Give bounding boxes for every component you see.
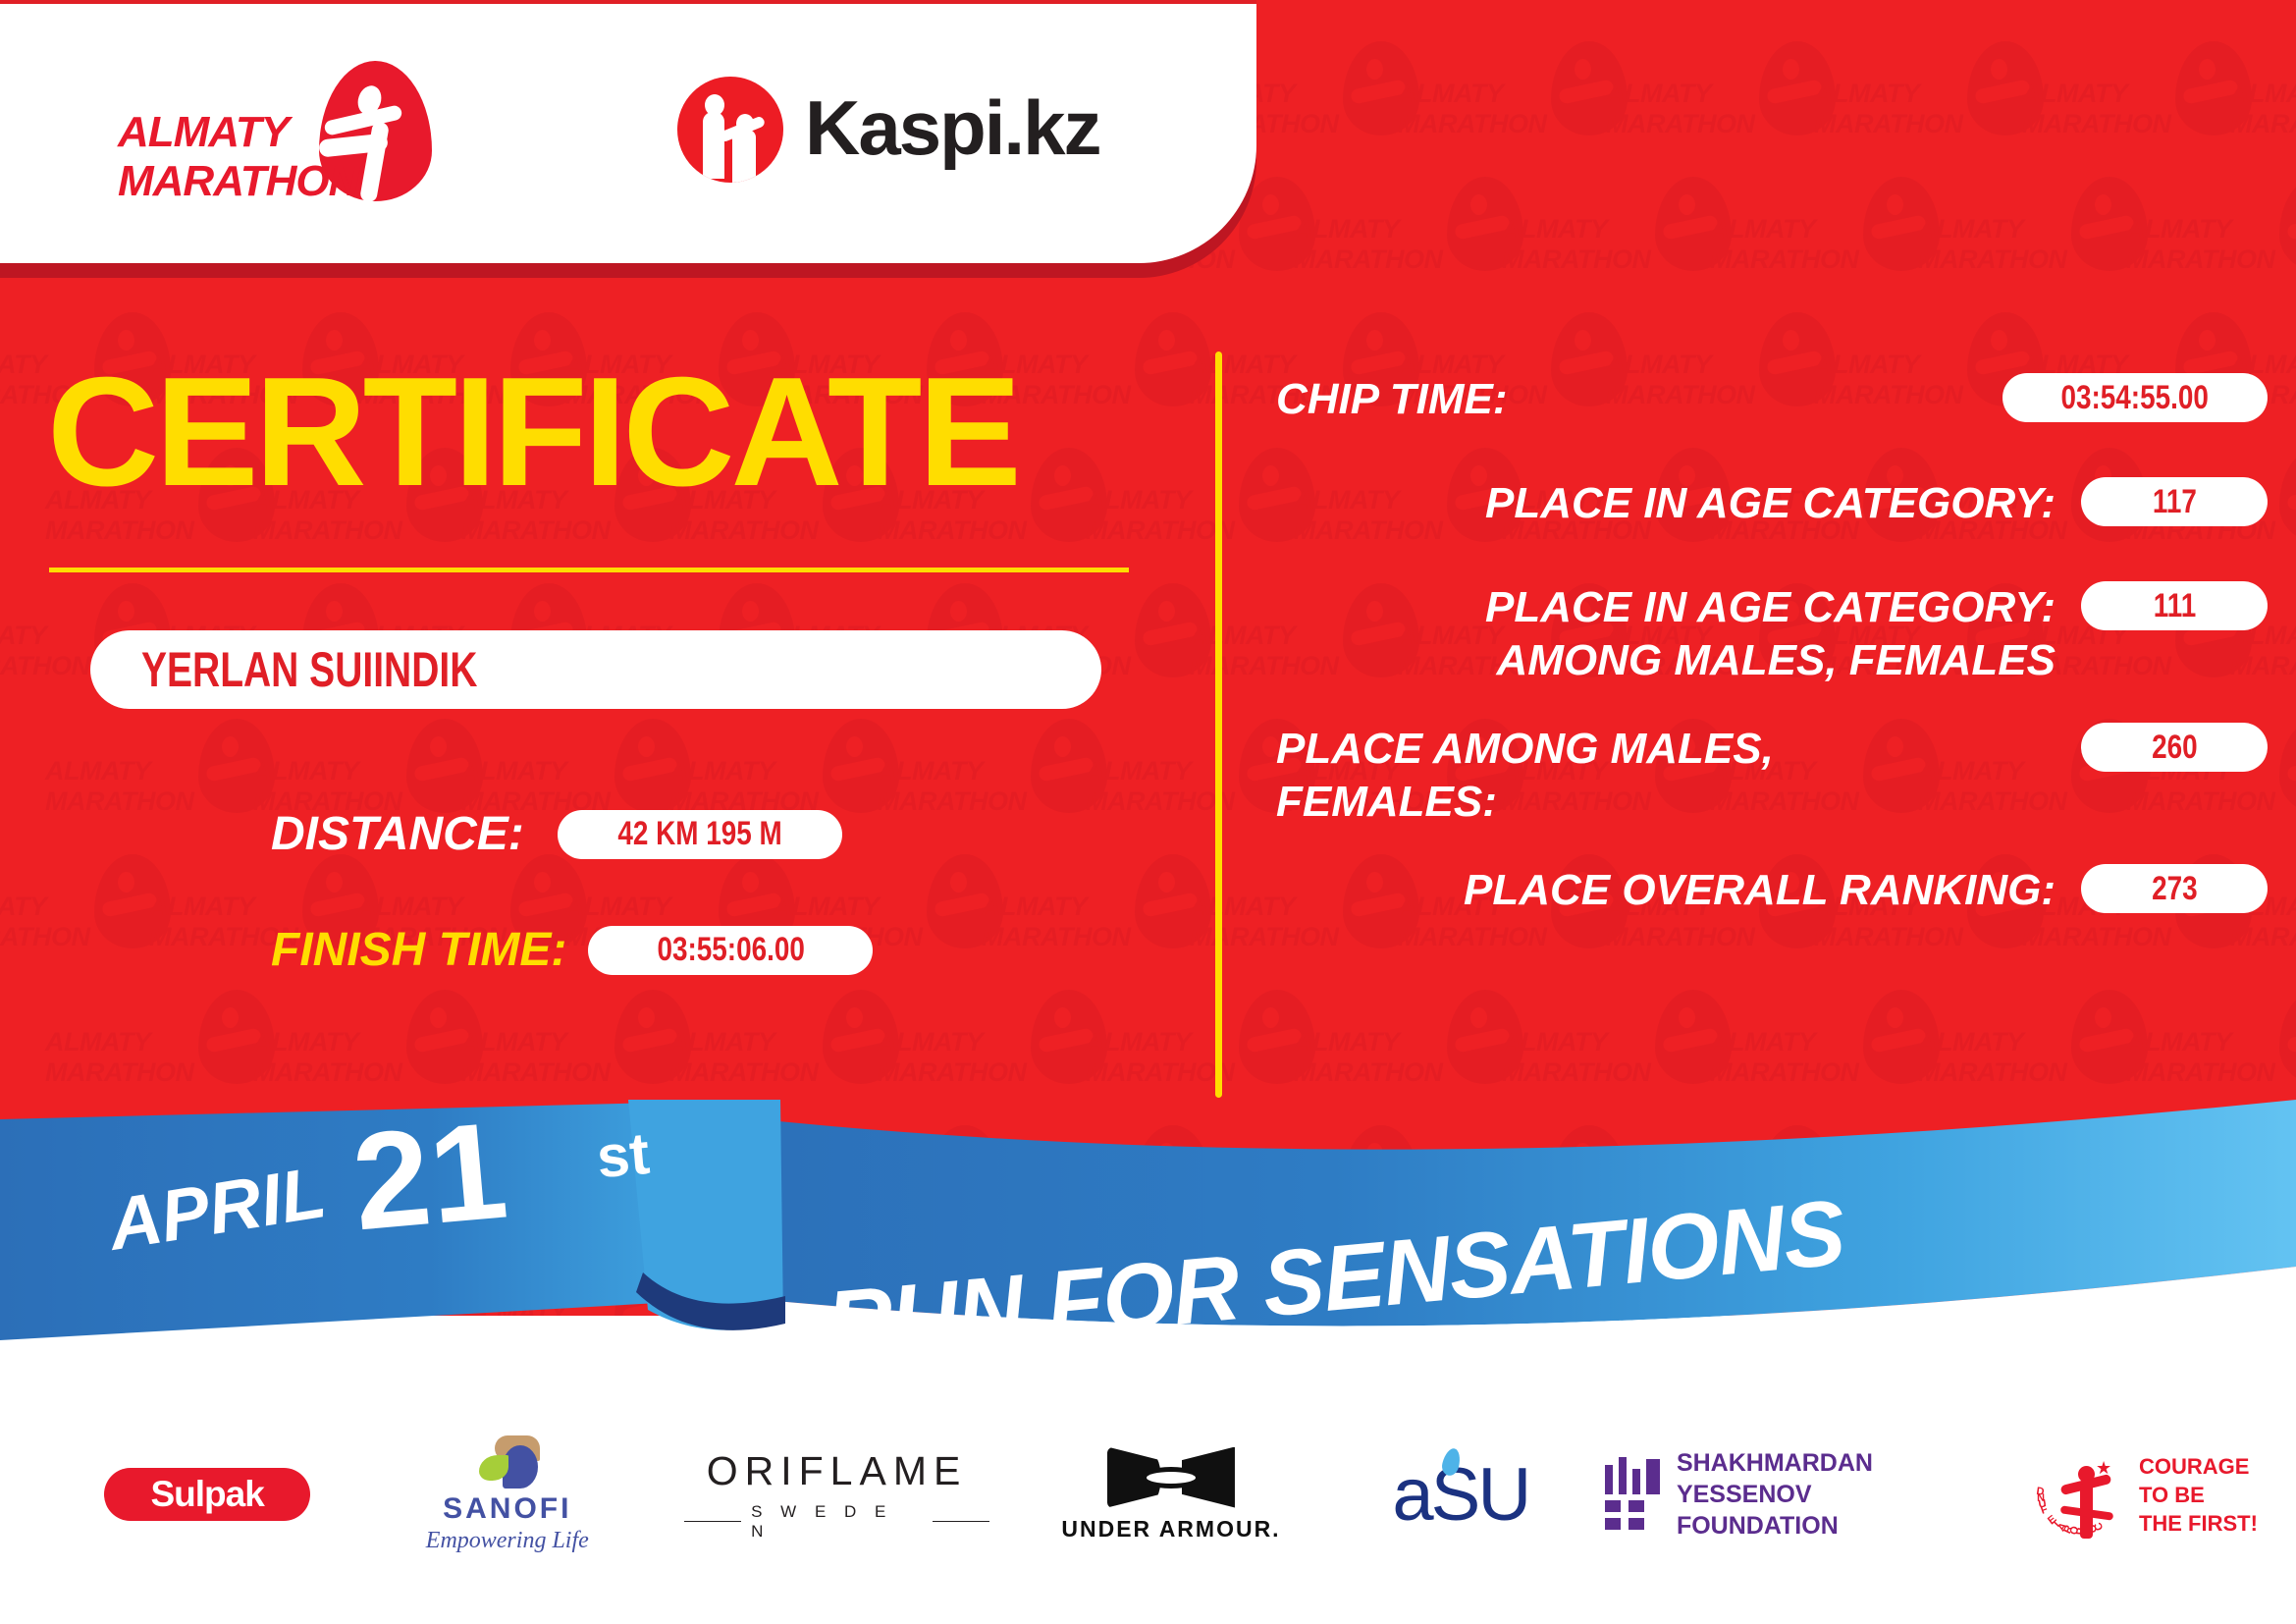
watermark-text: ALMATYMARATHON (1398, 1163, 1565, 1223)
sponsor-asu: aSU (1345, 1426, 1575, 1563)
sanofi-mark-icon (473, 1435, 542, 1489)
sponsor-sulpak: Sulpak (69, 1426, 346, 1563)
athlete-name-value: YERLAN SUIINDIK (141, 641, 477, 698)
certificate-page: ALMATYMARATHONALMATYMARATHONALMATYMARATH… (0, 0, 2296, 1624)
watermark-text: ALMATYMARATHON (1502, 1027, 1669, 1088)
watermark-text: ALMATYMARATHON (774, 1163, 940, 1223)
finish-time-row: FINISH TIME: 03:55:06.00 (271, 923, 873, 977)
watermark-text: ALMATYMARATHON (0, 1163, 108, 1223)
runner-leg2-shape (359, 121, 390, 203)
watermark-tile: ALMATYMARATHON (2230, 39, 2296, 187)
yessenov-bar-3 (1632, 1469, 1640, 1494)
courage-line-1: COURAGE (2139, 1452, 2258, 1481)
watermark-text: ALMATYMARATHON (1710, 1027, 1877, 1088)
watermark-tile: ALMATYMARATHON (1606, 1123, 1842, 1271)
distance-value-pill: 42 KM 195 M (558, 810, 842, 859)
watermark-text: ALMATYMARATHON (982, 1163, 1148, 1223)
watermark-tile: ALMATYMARATHON (1294, 988, 1529, 1135)
sponsor-logo-strip: Sulpak SANOFI Empowering Life ORIFLAME S… (0, 1406, 2296, 1583)
watermark-text: ALMATYMARATHON (1918, 214, 2085, 275)
sponsor-under-armour: UNDER ARMOUR. (1033, 1426, 1309, 1563)
watermark-text: ALMATYMARATHON (1814, 1163, 1981, 1223)
kaspi-logo: Kaspi.kz (677, 71, 1070, 189)
vertical-divider (1215, 352, 1222, 1098)
courage-wordmark: COURAGE TO BE THE FIRST! (2139, 1452, 2258, 1538)
stat-label: PLACE OVERALL RANKING: (1276, 864, 2056, 917)
watermark-tile: ALMATYMARATHON (1294, 175, 1529, 322)
oriflame-sub: S W E D E N (751, 1502, 923, 1542)
watermark-text: ALMATYMARATHON (1294, 1027, 1461, 1088)
watermark-text: ALMATYMARATHON (1398, 79, 1565, 139)
watermark-tile: ALMATYMARATHON (149, 1123, 385, 1271)
stat-value-pill: 273 (2081, 864, 2268, 913)
under-armour-logo-icon (1107, 1447, 1235, 1508)
yessenov-sq-1 (1605, 1500, 1621, 1512)
oriflame-rule-right (933, 1521, 989, 1522)
watermark-tile: ALMATYMARATHON (1606, 39, 1842, 187)
asu-wordmark: aSU (1392, 1452, 1528, 1538)
sponsor-oriflame: ORIFLAME S W E D E N (684, 1426, 989, 1563)
stat-label: CHIP TIME: (1276, 373, 1977, 426)
courage-line-2: TO BE (2139, 1481, 2258, 1509)
watermark-tile: ALMATYMARATHON (1190, 1123, 1425, 1271)
yessenov-sq-3 (1605, 1518, 1621, 1530)
watermark-text: ALMATYMARATHON (1606, 1163, 1773, 1223)
logo-line-2: MARATHON (118, 157, 358, 206)
almaty-marathon-logo: ALMATY MARATHON (118, 61, 442, 203)
stat-label: PLACE AMONG MALES,FEMALES: (1276, 723, 2056, 829)
watermark-tile: ALMATYMARATHON (1710, 175, 1946, 322)
watermark-tile: ALMATYMARATHON (1918, 988, 2154, 1135)
watermark-text: ALMATYMARATHON (1502, 214, 1669, 275)
results-stats-list: CHIP TIME:03:54:55.00PLACE IN AGE CATEGO… (1276, 373, 2268, 968)
watermark-text: ALMATYMARATHON (2126, 214, 2293, 275)
sanofi-green-shape (479, 1455, 508, 1481)
stat-value: 117 (2152, 483, 2196, 521)
sulpak-wordmark: Sulpak (150, 1474, 263, 1515)
watermark-text: ALMATYMARATHON (1294, 214, 1461, 275)
kaspi-child-body (732, 130, 756, 183)
watermark-tile: ALMATYMARATHON (1814, 39, 2050, 187)
watermark-tile: ALMATYMARATHON (2230, 1123, 2296, 1271)
title-underline (49, 568, 1129, 572)
sponsor-yessenov-foundation: SHAKHMARDAN YESSENOV FOUNDATION (1605, 1426, 1974, 1563)
watermark-tile: ALMATYMARATHON (1918, 175, 2154, 322)
finish-time-value-pill: 03:55:06.00 (588, 926, 873, 975)
watermark-text: ALMATYMARATHON (565, 1163, 732, 1223)
watermark-text: ALMATYMARATHON (357, 1163, 524, 1223)
yessenov-line-2: FOUNDATION (1677, 1510, 1975, 1542)
watermark-tile: ALMATYMARATHON (1502, 175, 1737, 322)
stat-value: 111 (2153, 587, 2195, 625)
watermark-tile: ALMATYMARATHON (2022, 1123, 2258, 1271)
stat-label: PLACE IN AGE CATEGORY:AMONG MALES, FEMAL… (1276, 581, 2056, 687)
stat-value-pill: 03:54:55.00 (2002, 373, 2268, 422)
watermark-text: ALMATYMARATHON (1710, 214, 1877, 275)
finish-time-label: FINISH TIME: (271, 923, 566, 977)
yessenov-sq-2 (1629, 1500, 1644, 1512)
page-title: CERTIFICATE (47, 353, 1018, 511)
stat-label: PLACE IN AGE CATEGORY: (1276, 477, 2056, 530)
stat-row: PLACE OVERALL RANKING:273 (1276, 864, 2268, 933)
watermark-text: ALMATYMARATHON (1918, 1027, 2085, 1088)
watermark-tile: ALMATYMARATHON (565, 1123, 801, 1271)
watermark-text: ALMATYMARATHON (2022, 79, 2189, 139)
header-notch: ALMATY MARATHON Kaspi.kz (0, 0, 1306, 280)
courage-line-3: THE FIRST! (2139, 1509, 2258, 1538)
distance-value: 42 KM 195 M (617, 815, 781, 853)
oriflame-sub-row: S W E D E N (684, 1502, 989, 1542)
asu-wordmark-text: aSU (1392, 1453, 1528, 1537)
logo-line-1: ALMATY (118, 108, 358, 157)
watermark-tile: ALMATYMARATHON (2022, 39, 2258, 187)
stat-value: 273 (2152, 870, 2198, 908)
stat-row: PLACE IN AGE CATEGORY:117 (1276, 477, 2268, 546)
kaspi-wordmark: Kaspi.kz (805, 86, 1099, 169)
watermark-text: ALMATYMARATHON (2022, 1163, 2189, 1223)
watermark-tile: ALMATYMARATHON (2126, 988, 2296, 1135)
stat-value-pill: 117 (2081, 477, 2268, 526)
watermark-text: ALMATYMARATHON (1814, 79, 1981, 139)
stat-row: CHIP TIME:03:54:55.00 (1276, 373, 2268, 442)
sulpak-pill-icon: Sulpak (104, 1468, 310, 1521)
watermark-text: ALMATYMARATHON (1190, 1163, 1357, 1223)
watermark-tile: ALMATYMARATHON (774, 1123, 1009, 1271)
yessenov-wordmark: SHAKHMARDAN YESSENOV FOUNDATION (1677, 1447, 1975, 1542)
watermark-tile: ALMATYMARATHON (982, 1123, 1217, 1271)
courage-figure-icon: CORPORATE FUND ★ (2039, 1440, 2129, 1548)
watermark-tile: ALMATYMARATHON (1710, 988, 1946, 1135)
distance-label: DISTANCE: (271, 807, 524, 861)
almaty-marathon-wordmark: ALMATY MARATHON (118, 108, 358, 206)
stat-value-pill: 111 (2081, 581, 2268, 630)
yessenov-bar-1 (1605, 1465, 1613, 1494)
ua-center-hole (1147, 1472, 1196, 1484)
yessenov-bar-2 (1619, 1457, 1627, 1494)
watermark-text: ALMATYMARATHON (1606, 79, 1773, 139)
watermark-tile: ALMATYMARATHON (1398, 1123, 1633, 1271)
sponsor-courage-fund: CORPORATE FUND ★ COURAGE TO BE THE FIRST… (2001, 1426, 2296, 1563)
finish-time-value: 03:55:06.00 (657, 931, 804, 969)
stat-value: 260 (2152, 729, 2198, 767)
kaspi-people-circle-icon (677, 77, 783, 183)
courage-arc-char: D (2036, 1486, 2046, 1498)
athlete-name-field: YERLAN SUIINDIK (90, 630, 1101, 709)
distance-row: DISTANCE: 42 KM 195 M (271, 807, 842, 861)
stat-value-pill: 260 (2081, 723, 2268, 772)
watermark-text: ALMATYMARATHON (2230, 79, 2296, 139)
watermark-text: ALMATYMARATHON (2230, 1163, 2296, 1223)
watermark-tile: ALMATYMARATHON (1398, 39, 1633, 187)
sanofi-wordmark: SANOFI (443, 1492, 571, 1526)
yessenov-bars-icon (1605, 1457, 1661, 1532)
watermark-tile: ALMATYMARATHON (1814, 1123, 2050, 1271)
stat-row: PLACE IN AGE CATEGORY:AMONG MALES, FEMAL… (1276, 581, 2268, 687)
watermark-tile: ALMATYMARATHON (357, 1123, 593, 1271)
yessenov-line-1: SHAKHMARDAN YESSENOV (1677, 1447, 1975, 1510)
watermark-tile: ALMATYMARATHON (2126, 175, 2296, 322)
yessenov-bar-4 (1646, 1459, 1660, 1494)
under-armour-wordmark: UNDER ARMOUR. (1061, 1516, 1280, 1543)
stat-value: 03:54:55.00 (2061, 379, 2209, 417)
yessenov-sq-4 (1629, 1518, 1644, 1530)
watermark-tile: ALMATYMARATHON (1502, 988, 1737, 1135)
kaspi-adult-body (703, 112, 724, 179)
stat-row: PLACE AMONG MALES,FEMALES:260 (1276, 723, 2268, 829)
watermark-text: ALMATYMARATHON (149, 1163, 316, 1223)
watermark-text: ALMATYMARATHON (2126, 1027, 2293, 1088)
oriflame-wordmark: ORIFLAME (707, 1448, 968, 1494)
sanofi-tagline: Empowering Life (426, 1528, 589, 1554)
sponsor-sanofi: SANOFI Empowering Life (373, 1426, 641, 1563)
oriflame-rule-left (684, 1521, 741, 1522)
